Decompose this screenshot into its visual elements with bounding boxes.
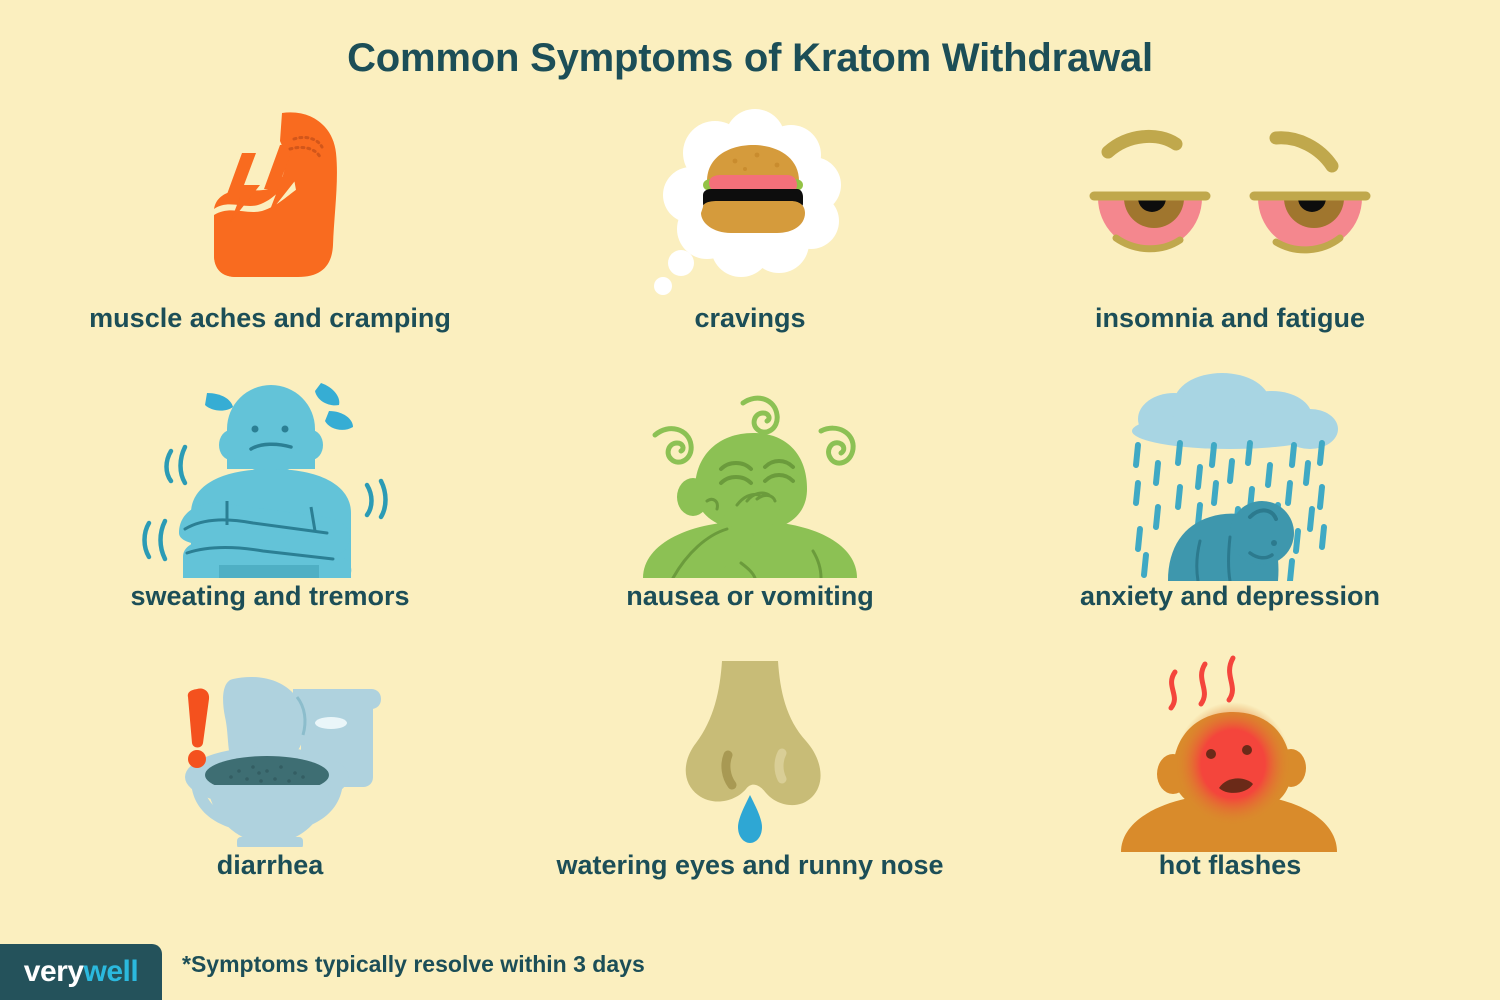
symptom-card-sweating: sweating and tremors — [30, 373, 510, 646]
symptom-card-insomnia: insomnia and fatigue — [990, 100, 1470, 373]
symptom-card-muscle-aches: muscle aches and cramping — [30, 100, 510, 373]
verywell-logo[interactable]: verywell — [0, 944, 162, 1000]
logo-text-well: well — [84, 955, 139, 988]
hamburger-thought-bubble-icon — [510, 100, 990, 300]
flexed-arm-with-lightning-icon — [30, 100, 510, 300]
symptom-card-anxiety: anxiety and depression — [990, 373, 1470, 646]
footnote: *Symptoms typically resolve within 3 day… — [182, 951, 645, 978]
symptom-label: insomnia and fatigue — [1095, 304, 1365, 334]
infographic-canvas: Common Symptoms of Kratom Withdrawal mus… — [0, 0, 1500, 1000]
symptom-label: diarrhea — [217, 851, 324, 881]
dizzy-nauseous-person-icon — [510, 373, 990, 578]
symptom-card-cravings: cravings — [510, 100, 990, 373]
symptom-card-hot-flashes: hot flashes — [990, 647, 1470, 920]
symptom-label: hot flashes — [1159, 851, 1302, 881]
logo-text-very: very — [24, 955, 84, 988]
symptom-card-nausea: nausea or vomiting — [510, 373, 990, 646]
symptom-card-runny-nose: watering eyes and runny nose — [510, 647, 990, 920]
dripping-nose-icon — [510, 647, 990, 847]
symptom-card-diarrhea: diarrhea — [30, 647, 510, 920]
symptoms-grid: muscle aches and cramping — [30, 100, 1470, 920]
tired-droopy-eyes-icon — [990, 100, 1470, 300]
rain-cloud-over-person-icon — [990, 373, 1470, 578]
flushed-face-with-heat-waves-icon — [990, 647, 1470, 847]
toilet-with-exclamation-icon — [30, 647, 510, 847]
symptom-label: sweating and tremors — [130, 582, 409, 612]
symptom-label: cravings — [694, 304, 805, 334]
symptom-label: muscle aches and cramping — [89, 304, 451, 334]
symptom-label: anxiety and depression — [1080, 582, 1380, 612]
sweating-trembling-person-icon — [30, 373, 510, 578]
symptom-label: watering eyes and runny nose — [556, 851, 943, 881]
symptom-label: nausea or vomiting — [626, 582, 874, 612]
page-title: Common Symptoms of Kratom Withdrawal — [0, 36, 1500, 81]
